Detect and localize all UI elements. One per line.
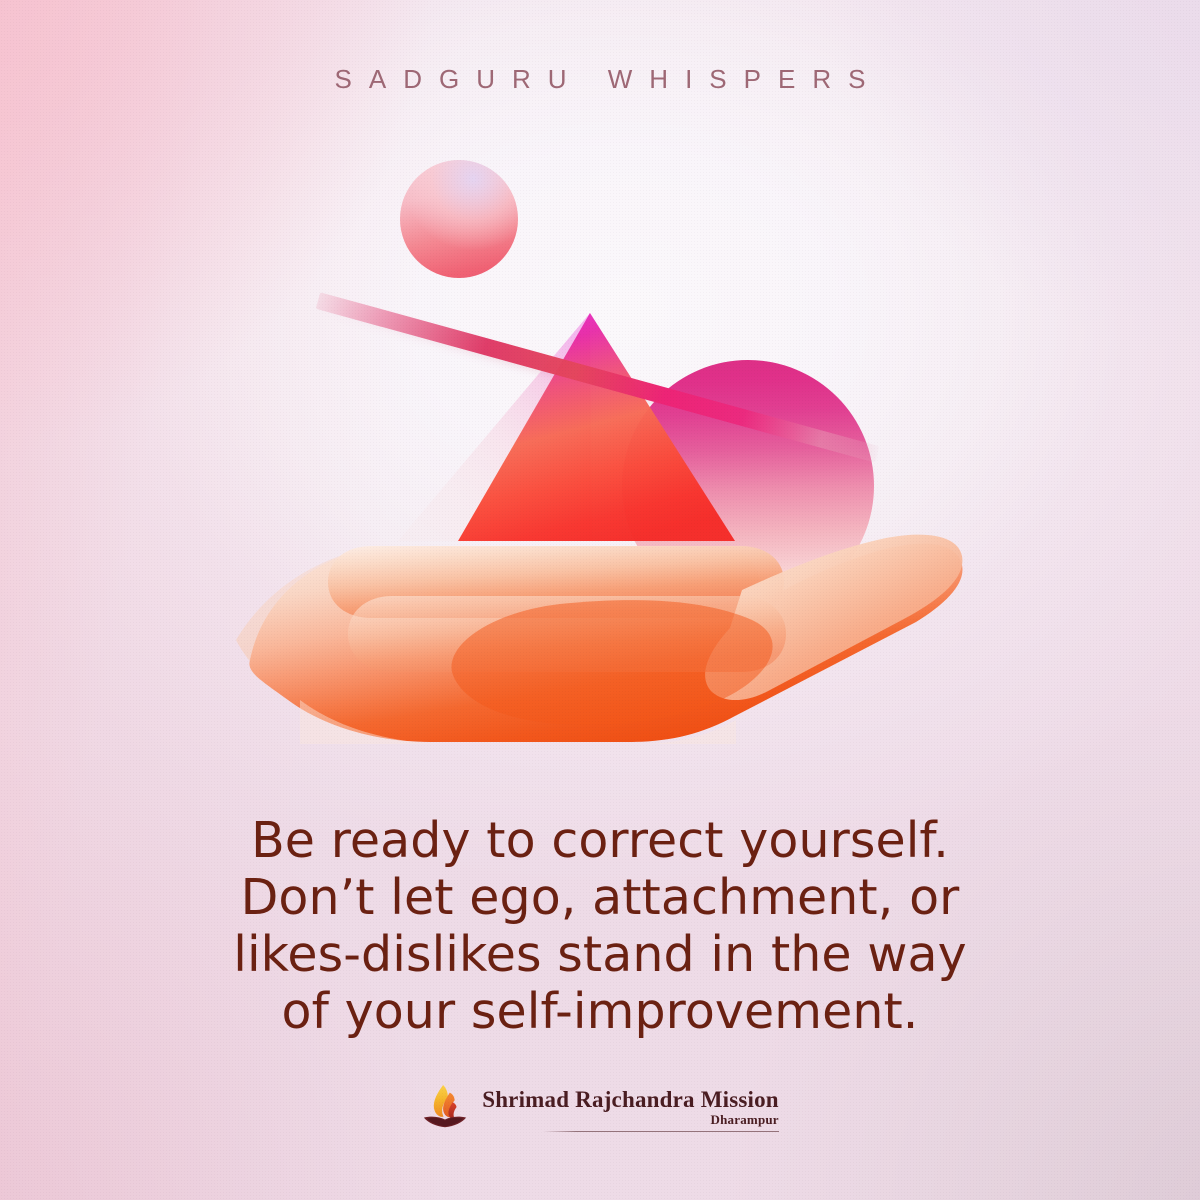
- logo-text-block: Shrimad Rajchandra Mission Dharampur: [482, 1087, 779, 1132]
- organization-logo: Shrimad Rajchandra Mission Dharampur: [0, 1083, 1200, 1135]
- poster-canvas: SADGURU WHISPERS: [0, 0, 1200, 1200]
- quote-line-1: Be ready to correct yourself.: [0, 812, 1200, 869]
- quote-line-4: of your self-improvement.: [0, 983, 1200, 1040]
- logo-subtitle: Dharampur: [711, 1112, 779, 1127]
- logo-title: Shrimad Rajchandra Mission: [482, 1087, 779, 1112]
- quote-text: Be ready to correct yourself. Don’t let …: [0, 812, 1200, 1040]
- quote-line-3: likes-dislikes stand in the way: [0, 926, 1200, 983]
- flame-book-icon: [421, 1083, 469, 1135]
- logo-divider: [543, 1131, 779, 1132]
- quote-line-2: Don’t let ego, attachment, or: [0, 869, 1200, 926]
